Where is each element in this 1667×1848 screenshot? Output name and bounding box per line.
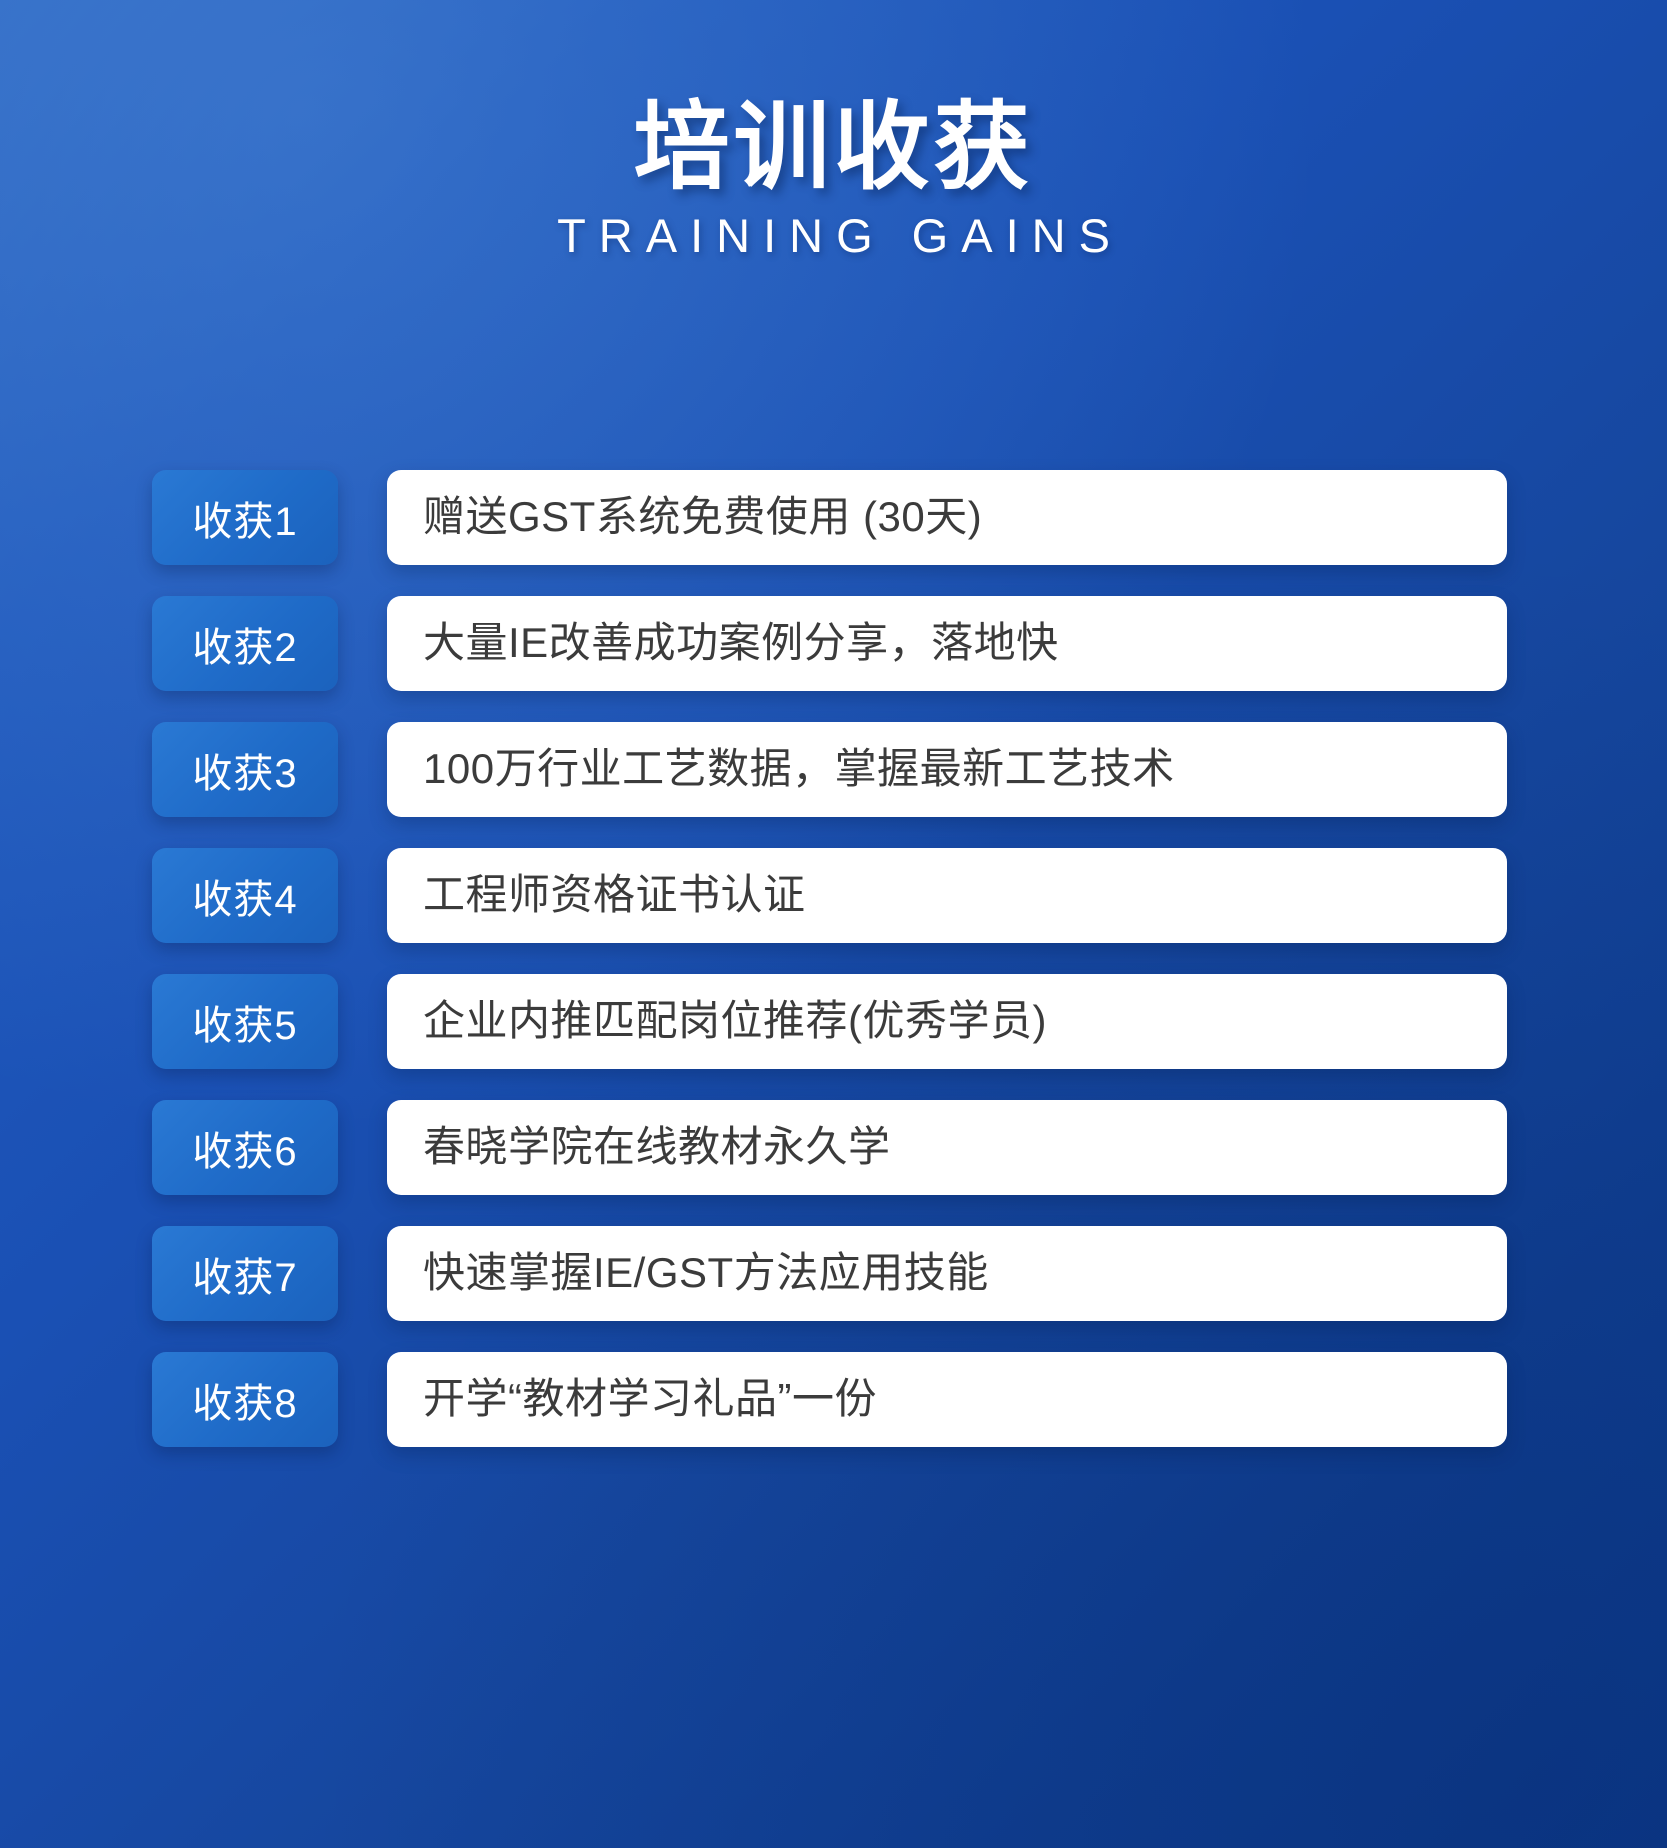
gain-text-6: 春晓学院在线教材永久学 — [423, 1124, 891, 1170]
gain-badge-2: 收获2 — [152, 596, 338, 691]
gain-badge-4: 收获4 — [152, 848, 338, 943]
gain-badge-1: 收获1 — [152, 470, 338, 565]
gain-badge-5: 收获5 — [152, 974, 338, 1069]
gain-text-5: 企业内推匹配岗位推荐(优秀学员) — [423, 998, 1047, 1044]
list-item: 收获2 大量IE改善成功案例分享，落地快 — [152, 596, 1507, 691]
gain-text-2: 大量IE改善成功案例分享，落地快 — [423, 620, 1059, 666]
page-subtitle: TRAINING GAINS — [0, 210, 1667, 262]
list-item: 收获7 快速掌握IE/GST方法应用技能 — [152, 1226, 1507, 1321]
gain-card-2: 大量IE改善成功案例分享，落地快 — [387, 596, 1507, 691]
gain-badge-8: 收获8 — [152, 1352, 338, 1447]
gains-list: 收获1 赠送GST系统免费使用 (30天) 收获2 大量IE改善成功案例分享，落… — [152, 470, 1507, 1447]
poster-header: 培训收获 TRAINING GAINS — [0, 96, 1667, 261]
gain-card-8: 开学“教材学习礼品”一份 — [387, 1352, 1507, 1447]
gain-card-3: 100万行业工艺数据，掌握最新工艺技术 — [387, 722, 1507, 817]
gain-badge-7: 收获7 — [152, 1226, 338, 1321]
gain-badge-3: 收获3 — [152, 722, 338, 817]
gain-text-8: 开学“教材学习礼品”一份 — [423, 1376, 877, 1422]
list-item: 收获8 开学“教材学习礼品”一份 — [152, 1352, 1507, 1447]
gain-text-1: 赠送GST系统免费使用 (30天) — [423, 494, 982, 540]
list-item: 收获4 工程师资格证书认证 — [152, 848, 1507, 943]
gain-text-4: 工程师资格证书认证 — [423, 872, 806, 918]
gain-card-6: 春晓学院在线教材永久学 — [387, 1100, 1507, 1195]
gain-badge-6: 收获6 — [152, 1100, 338, 1195]
gain-text-7: 快速掌握IE/GST方法应用技能 — [423, 1250, 989, 1296]
page-title: 培训收获 — [0, 96, 1667, 200]
list-item: 收获1 赠送GST系统免费使用 (30天) — [152, 470, 1507, 565]
gain-card-4: 工程师资格证书认证 — [387, 848, 1507, 943]
gain-card-5: 企业内推匹配岗位推荐(优秀学员) — [387, 974, 1507, 1069]
list-item: 收获5 企业内推匹配岗位推荐(优秀学员) — [152, 974, 1507, 1069]
gain-text-3: 100万行业工艺数据，掌握最新工艺技术 — [423, 746, 1175, 792]
list-item: 收获6 春晓学院在线教材永久学 — [152, 1100, 1507, 1195]
gain-card-1: 赠送GST系统免费使用 (30天) — [387, 470, 1507, 565]
list-item: 收获3 100万行业工艺数据，掌握最新工艺技术 — [152, 722, 1507, 817]
training-gains-poster: 培训收获 TRAINING GAINS 收获1 赠送GST系统免费使用 (30天… — [0, 0, 1667, 1848]
gain-card-7: 快速掌握IE/GST方法应用技能 — [387, 1226, 1507, 1321]
